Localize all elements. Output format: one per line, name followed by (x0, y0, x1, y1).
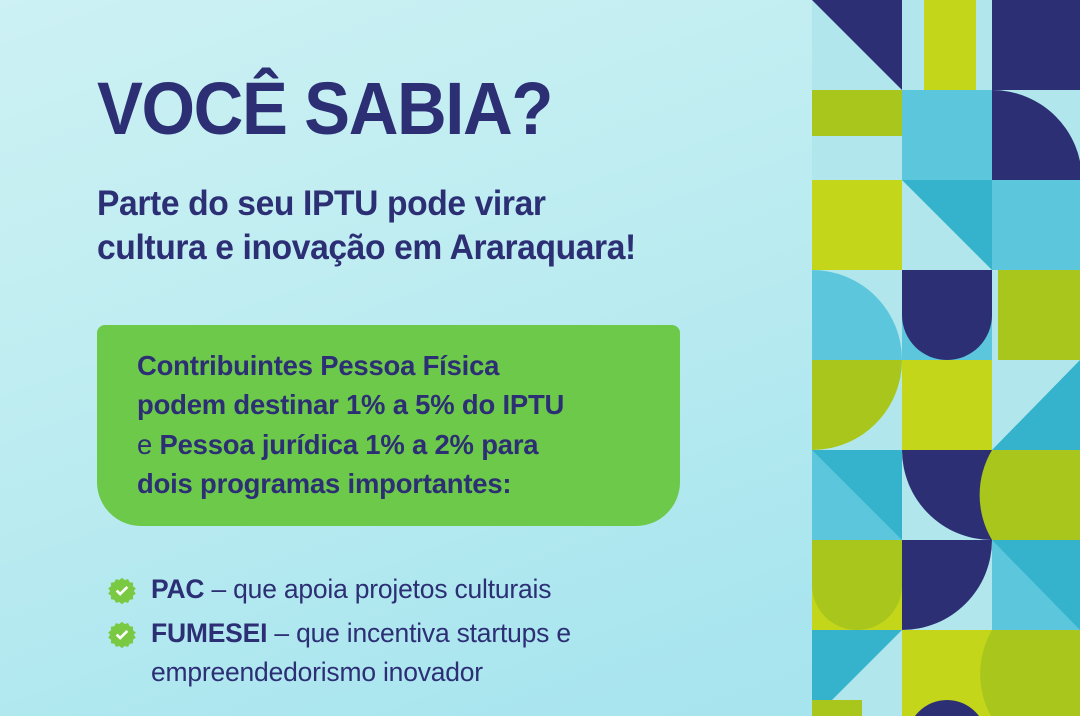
subtitle: Parte do seu IPTU pode virar cultura e i… (97, 182, 636, 270)
page-title: VOCÊ SABIA? (97, 72, 552, 146)
callout-line-3-thin: e (137, 429, 159, 460)
list-item: FUMESEI – que incentiva startups e empre… (108, 614, 768, 691)
list-item-label: PAC – que apoia projetos culturais (151, 570, 551, 608)
program-list: PAC – que apoia projetos culturais FUMES… (108, 570, 768, 697)
callout-line-2: podem destinar 1% a 5% do IPTU (137, 385, 564, 424)
program-description: – que apoia projetos culturais (204, 574, 551, 604)
geometric-bauhaus-pattern (812, 0, 1080, 716)
check-badge-icon (108, 621, 136, 649)
list-item: PAC – que apoia projetos culturais (108, 570, 768, 608)
check-badge-icon (108, 577, 136, 605)
program-name: FUMESEI (151, 618, 267, 648)
callout-box: Contribuintes Pessoa Física podem destin… (97, 325, 680, 526)
program-name: PAC (151, 574, 204, 604)
subtitle-line-2: cultura e inovação em Araraquara! (97, 226, 636, 270)
content-area: VOCÊ SABIA? Parte do seu IPTU pode virar… (0, 0, 812, 716)
list-item-label: FUMESEI – que incentiva startups e empre… (151, 614, 756, 691)
callout-line-4: dois programas importantes: (137, 464, 564, 503)
callout-text: Contribuintes Pessoa Física podem destin… (137, 346, 564, 504)
callout-line-3: e Pessoa jurídica 1% a 2% para (137, 425, 564, 464)
subtitle-line-1: Parte do seu IPTU pode virar (97, 182, 636, 226)
callout-line-3-bold: Pessoa jurídica 1% a 2% para (159, 429, 538, 460)
callout-line-1: Contribuintes Pessoa Física (137, 346, 564, 385)
poster-canvas: VOCÊ SABIA? Parte do seu IPTU pode virar… (0, 0, 1080, 716)
